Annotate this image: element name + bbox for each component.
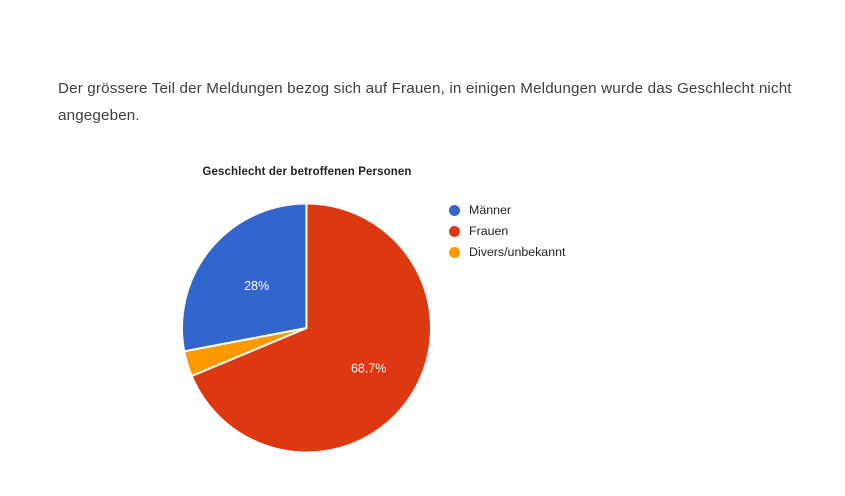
legend-item[interactable]: Divers/unbekannt <box>449 242 649 262</box>
pie-chart-figure: Geschlecht der betroffenen Personen 68.7… <box>0 150 845 496</box>
legend-item-label: Frauen <box>469 221 508 241</box>
pie-slice-label: 68.7% <box>351 362 386 376</box>
chart-legend: MännerFrauenDivers/unbekannt <box>449 200 649 263</box>
intro-paragraph: Der grössere Teil der Meldungen bezog si… <box>58 75 828 129</box>
pie-chart-area: 68.7%28% <box>175 197 440 459</box>
legend-item[interactable]: Frauen <box>449 221 649 241</box>
pie-chart-svg: 68.7%28% <box>175 197 440 459</box>
page-root: Der grössere Teil der Meldungen bezog si… <box>0 0 845 496</box>
pie-slice-label: 28% <box>244 279 269 293</box>
legend-swatch-icon <box>449 226 460 237</box>
legend-item-label: Divers/unbekannt <box>469 242 565 262</box>
pie-slice[interactable] <box>182 204 306 352</box>
legend-swatch-icon <box>449 205 460 216</box>
chart-title: Geschlecht der betroffenen Personen <box>182 166 432 178</box>
legend-item-label: Männer <box>469 200 511 220</box>
pie-slice-group <box>182 204 431 453</box>
legend-item[interactable]: Männer <box>449 200 649 220</box>
legend-swatch-icon <box>449 247 460 258</box>
